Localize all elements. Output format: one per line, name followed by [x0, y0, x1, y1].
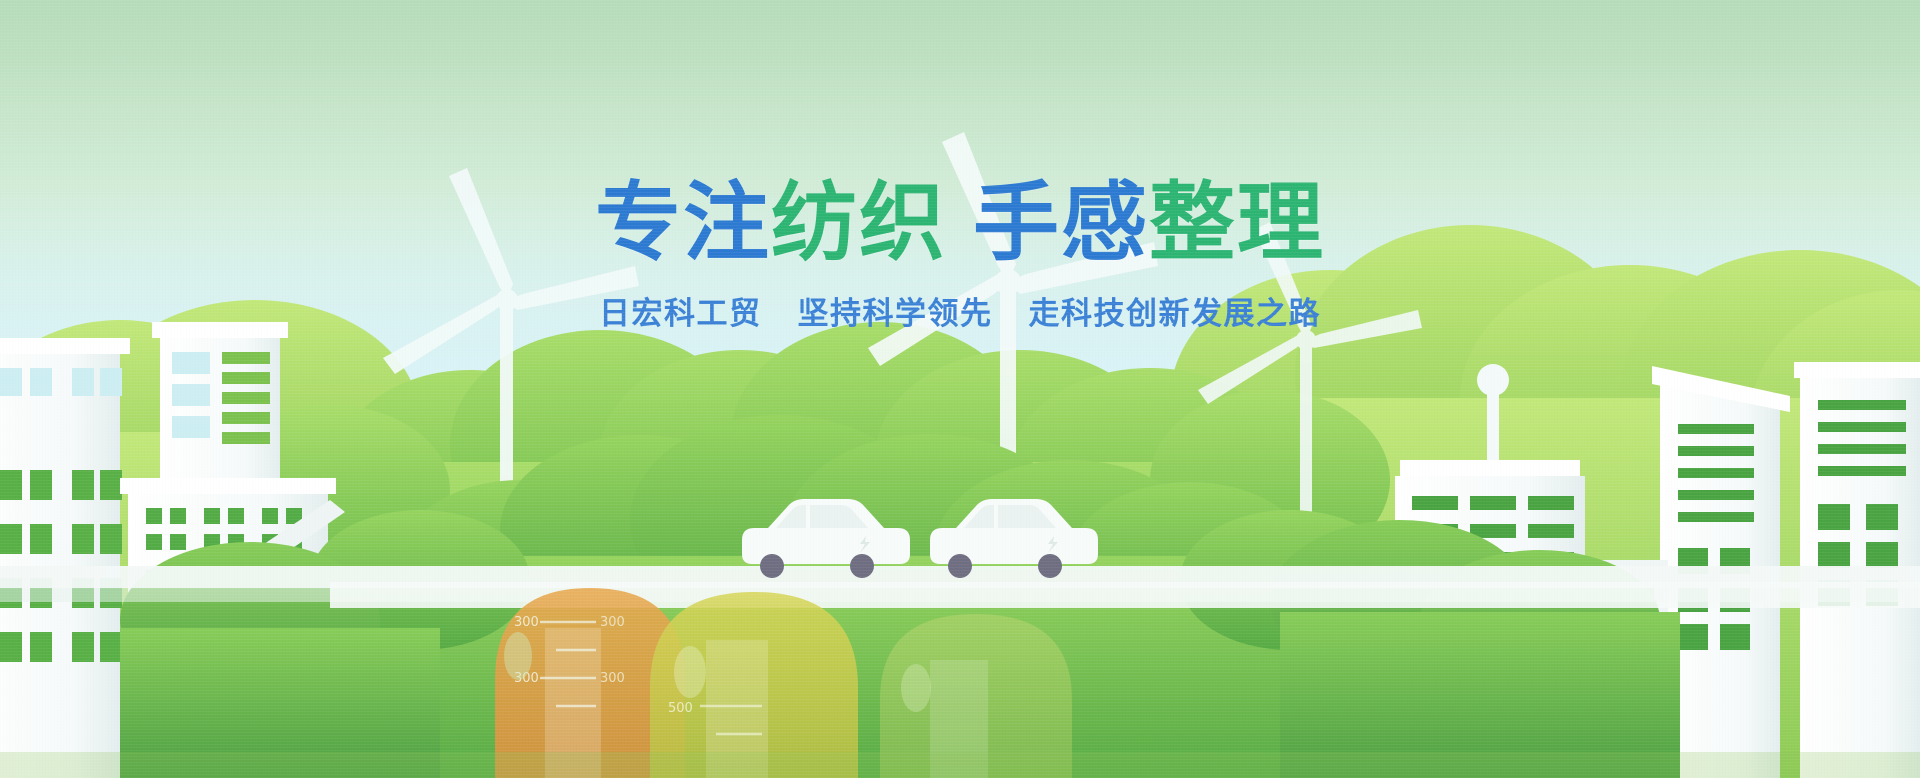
window-row-cyan: [172, 352, 210, 438]
beaker-mark: 500: [668, 701, 693, 716]
laboratory-beaker-yellow: 500: [650, 592, 858, 778]
car-wheel: [1038, 554, 1062, 578]
car-wheel: [948, 554, 972, 578]
car-wheel: [850, 554, 874, 578]
banner-stage: 300 300 300 300 500: [0, 0, 1920, 778]
illustration-scene: 300 300 300 300 500: [0, 0, 1920, 778]
car-wheel: [760, 554, 784, 578]
beaker-mark: 300: [514, 615, 539, 630]
antenna-ball: [1477, 364, 1509, 396]
beaker-mark: 300: [600, 671, 625, 686]
beaker-mark: 300: [600, 615, 625, 630]
